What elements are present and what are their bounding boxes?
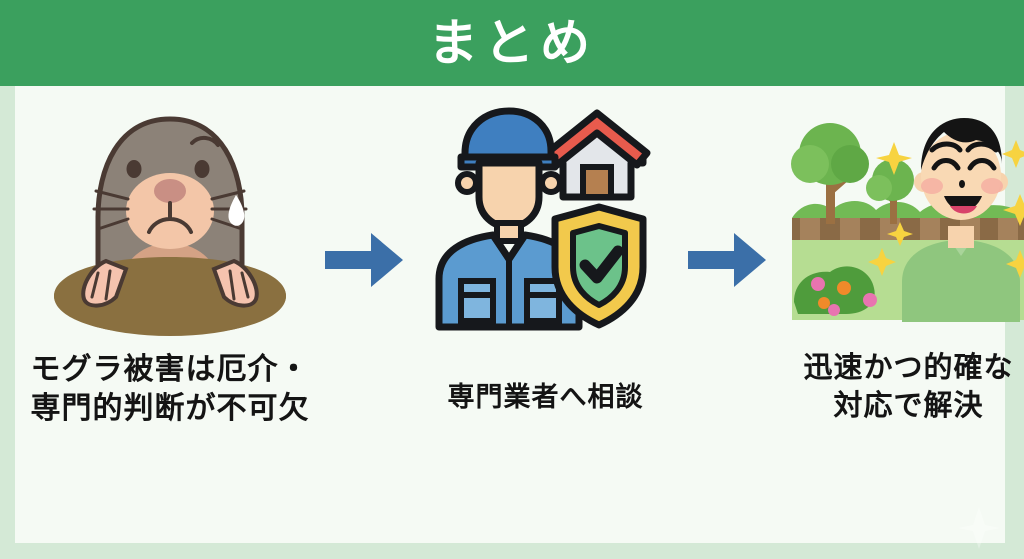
arrow-2-cell	[688, 86, 766, 543]
shield-check-icon	[555, 207, 643, 325]
sad-mole-icon	[40, 91, 300, 341]
happy-person-garden-icon	[784, 106, 1024, 326]
slide-header: まとめ	[0, 0, 1024, 86]
step-3-caption: 迅速かつ的確な 対応で解決	[803, 350, 1013, 425]
step-2-caption: 専門業者へ相談	[448, 350, 644, 415]
step-3-caption-line-1: 迅速かつ的確な	[803, 350, 1013, 388]
worker-illustration	[431, 86, 661, 346]
step-1-caption: モグラ被害は厄介・ 専門的判断が不可欠	[31, 350, 310, 428]
step-1-caption-line-2: 専門的判断が不可欠	[31, 389, 310, 428]
worker-house-shield-icon	[431, 101, 661, 331]
step-2-caption-line-1: 専門業者へ相談	[448, 380, 644, 415]
flow-container: モグラ被害は厄介・ 専門的判断が不可欠	[15, 86, 1005, 543]
step-2: 専門業者へ相談	[403, 86, 688, 543]
step-3: 迅速かつ的確な 対応で解決	[766, 86, 1024, 543]
slide-root: まとめ	[0, 0, 1024, 559]
sad-mole-illustration	[40, 86, 300, 346]
page-title: まとめ	[428, 18, 596, 68]
arrow-right-icon	[325, 231, 403, 289]
step-1-caption-line-1: モグラ被害は厄介・	[31, 350, 310, 389]
happy-person-garden-illustration	[784, 86, 1024, 346]
arrow-1-cell	[325, 86, 403, 543]
step-1: モグラ被害は厄介・ 専門的判断が不可欠	[15, 86, 325, 543]
arrow-right-icon	[688, 231, 766, 289]
step-3-caption-line-2: 対応で解決	[803, 388, 1013, 426]
